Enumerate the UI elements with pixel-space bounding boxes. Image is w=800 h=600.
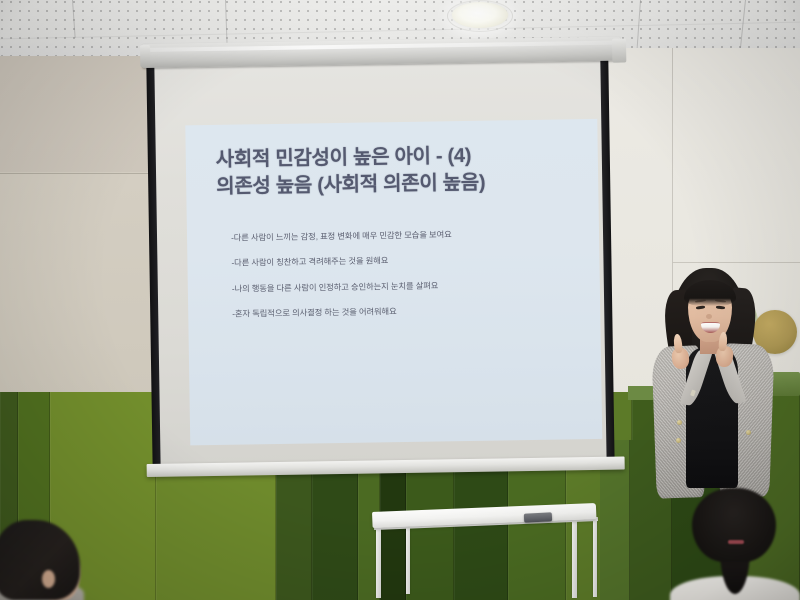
- presenter-jacket-button: [677, 420, 682, 425]
- screen-housing-end-cap: [140, 45, 150, 67]
- presenter-jacket-button: [676, 438, 681, 443]
- table-leg: [593, 517, 597, 597]
- presenter-jacket-button: [746, 430, 751, 435]
- screen-housing-highlight: [142, 41, 612, 52]
- table-leg: [376, 526, 381, 598]
- slide-title: 사회적 민감성이 높은 아이 - (4) 의존성 높음 (사회적 의존이 높음): [216, 141, 587, 200]
- audience-hair-tie: [728, 540, 744, 544]
- ceiling-light-icon: [452, 2, 508, 28]
- slide-bullet-list: -다른 사람이 느끼는 감정, 표정 변화에 매우 민감한 모습을 보여요 -다…: [231, 227, 583, 334]
- slide-bullet: -나의 행동을 다른 사람이 인정하고 승인하는지 눈치를 살펴요: [232, 278, 582, 294]
- remote-control[interactable]: [524, 512, 552, 522]
- slide-bullet: -다른 사람이 느끼는 감정, 표정 변화에 매우 민감한 모습을 보여요: [231, 227, 581, 243]
- audience-ear: [42, 570, 55, 588]
- screen-housing-end-cap: [612, 38, 626, 62]
- screen-surface: 사회적 민감성이 높은 아이 - (4) 의존성 높음 (사회적 의존이 높음)…: [154, 59, 606, 470]
- presenter: [636, 262, 796, 522]
- classroom-photo-scene: 사회적 민감성이 높은 아이 - (4) 의존성 높음 (사회적 의존이 높음)…: [0, 0, 800, 600]
- slide-bullet: -혼자 독립적으로 의사결정 하는 것을 어려워해요: [232, 303, 582, 319]
- audience-hair: [692, 488, 776, 562]
- slide-bullet: -다른 사람이 칭찬하고 격려해주는 것을 원해요: [231, 253, 581, 269]
- projected-slide: 사회적 민감성이 높은 아이 - (4) 의존성 높음 (사회적 의존이 높음)…: [185, 119, 602, 445]
- table-leg: [406, 524, 410, 594]
- table-leg: [572, 517, 577, 598]
- audience-hair: [0, 520, 80, 600]
- projector-screen[interactable]: 사회적 민감성이 높은 아이 - (4) 의존성 높음 (사회적 의존이 높음)…: [146, 37, 623, 484]
- audience-person-right: [668, 488, 800, 600]
- audience-person-left: [0, 520, 104, 600]
- presenter-nose: [706, 314, 712, 319]
- slide-title-line-2: 의존성 높음 (사회적 의존이 높음): [216, 168, 586, 200]
